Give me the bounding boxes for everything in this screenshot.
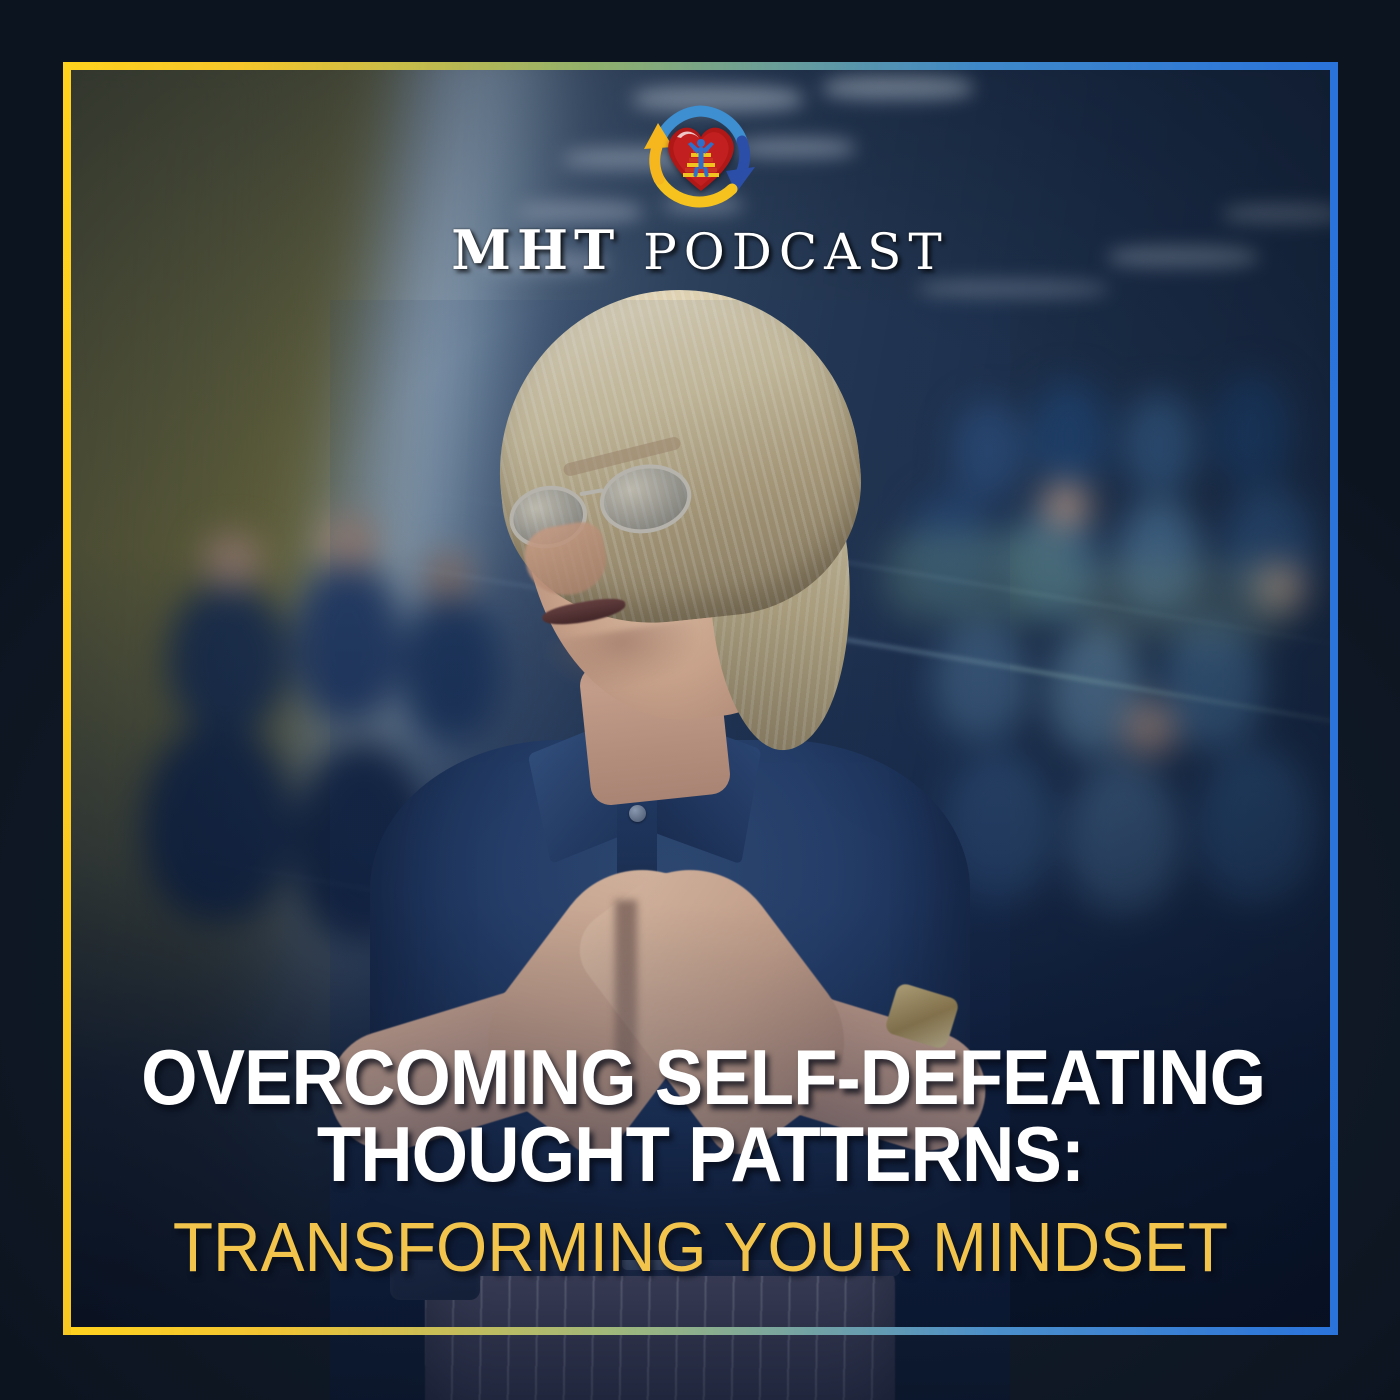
lens-right <box>594 457 696 540</box>
episode-title-block: OVERCOMING SELF-DEFEATING THOUGHT PATTER… <box>63 1039 1338 1282</box>
brand-wordmark: MHT PODCAST <box>451 223 949 277</box>
episode-title-line-1: OVERCOMING SELF-DEFEATING <box>141 1039 1260 1115</box>
heart-icon <box>661 117 741 193</box>
episode-subtitle: TRANSFORMING YOUR MINDSET <box>135 1212 1266 1282</box>
episode-title-line-2: THOUGHT PATTERNS: <box>141 1116 1260 1192</box>
brand-name-podcast: PODCAST <box>643 223 949 281</box>
shirt-button <box>629 805 646 822</box>
podcast-cover: MHT PODCAST OVERCOMING SELF-DEFEATING TH… <box>0 0 1400 1400</box>
mht-heart-cycle-logo <box>633 105 768 217</box>
brand-block: MHT PODCAST <box>0 105 1400 277</box>
brand-name-mht: MHT <box>451 218 620 282</box>
